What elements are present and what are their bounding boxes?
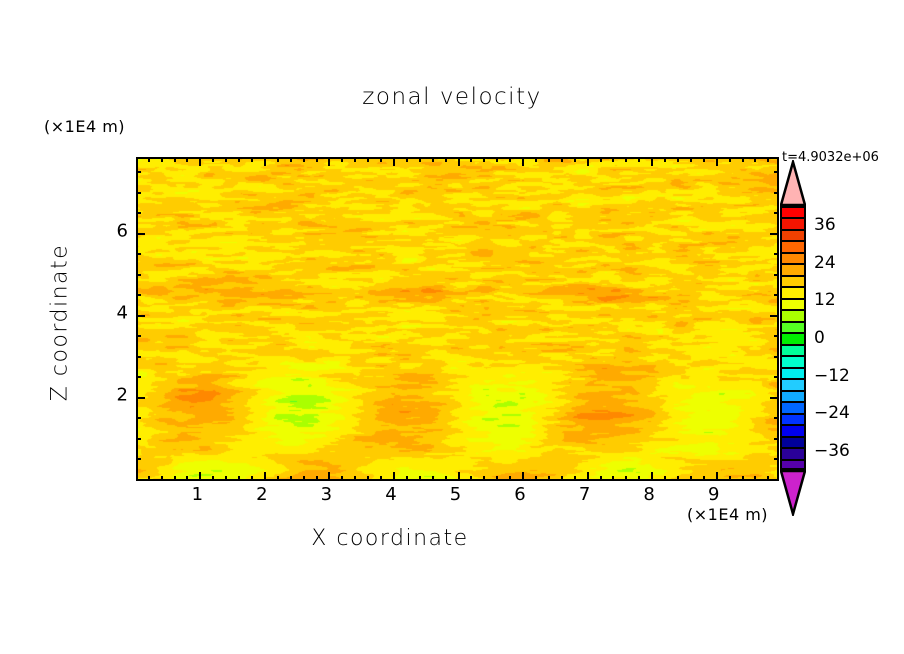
tick-mark xyxy=(419,157,421,162)
tick-mark xyxy=(136,274,141,276)
tick-mark xyxy=(303,157,305,162)
tick-mark xyxy=(509,157,511,162)
tick-mark xyxy=(574,157,576,162)
tick-mark xyxy=(161,476,163,481)
tick-mark xyxy=(496,157,498,162)
tick-mark xyxy=(774,356,779,358)
tick-mark xyxy=(354,476,356,481)
tick-mark xyxy=(483,157,485,162)
x-tick-label: 8 xyxy=(643,484,654,505)
colorbar-separator xyxy=(780,390,806,392)
tick-mark xyxy=(380,476,382,481)
tick-mark xyxy=(136,458,141,460)
tick-mark xyxy=(470,157,472,162)
tick-mark xyxy=(651,157,653,166)
tick-mark xyxy=(729,157,731,162)
tick-mark xyxy=(148,476,150,481)
tick-mark xyxy=(774,171,779,173)
tick-mark xyxy=(612,157,614,162)
x-tick-label: 4 xyxy=(385,484,396,505)
tick-mark xyxy=(625,476,627,481)
tick-mark xyxy=(328,472,330,481)
tick-mark xyxy=(136,376,141,378)
tick-mark xyxy=(767,476,769,481)
contour-field xyxy=(138,159,777,479)
x-axis-title: X coordinate xyxy=(0,526,780,551)
tick-mark xyxy=(341,157,343,162)
tick-mark xyxy=(561,157,563,162)
tick-mark xyxy=(238,476,240,481)
tick-mark xyxy=(136,315,145,317)
tick-mark xyxy=(432,157,434,162)
tick-mark xyxy=(625,157,627,162)
x-tick-label: 2 xyxy=(256,484,267,505)
tick-mark xyxy=(774,253,779,255)
tick-mark xyxy=(199,472,201,481)
tick-mark xyxy=(612,476,614,481)
tick-mark xyxy=(548,157,550,162)
x-tick-label: 7 xyxy=(579,484,590,505)
tick-mark xyxy=(770,233,779,235)
colorbar-separator xyxy=(780,321,806,323)
tick-mark xyxy=(251,476,253,481)
tick-mark xyxy=(638,476,640,481)
tick-mark xyxy=(251,157,253,162)
colorbar-separator xyxy=(780,468,806,470)
tick-mark xyxy=(148,157,150,162)
tick-mark xyxy=(316,157,318,162)
tick-mark xyxy=(458,157,460,166)
tick-mark xyxy=(638,157,640,162)
colorbar-separator xyxy=(780,229,806,231)
tick-mark xyxy=(742,476,744,481)
tick-mark xyxy=(716,157,718,166)
tick-mark xyxy=(600,157,602,162)
x-tick-label: 5 xyxy=(450,484,461,505)
contour-plot-area[interactable] xyxy=(136,157,779,481)
tick-mark xyxy=(509,476,511,481)
tick-mark xyxy=(225,157,227,162)
colorbar-separator xyxy=(780,367,806,369)
tick-mark xyxy=(574,476,576,481)
colorbar-over-range-arrow xyxy=(780,160,806,206)
tick-mark xyxy=(406,476,408,481)
tick-mark xyxy=(774,479,779,481)
x-axis-units-label: (×1E4 m) xyxy=(687,505,768,524)
colorbar-label: −12 xyxy=(814,366,850,386)
colorbar-separator xyxy=(780,344,806,346)
colorbar-under-range-arrow xyxy=(780,470,806,516)
colorbar-separator xyxy=(780,240,806,242)
colorbar-label: 24 xyxy=(814,253,836,273)
y-tick-label: 6 xyxy=(98,220,128,241)
colorbar-separator xyxy=(780,413,806,415)
tick-mark xyxy=(754,157,756,162)
tick-mark xyxy=(548,476,550,481)
tick-mark xyxy=(380,157,382,162)
tick-mark xyxy=(367,157,369,162)
tick-mark xyxy=(136,356,141,358)
tick-mark xyxy=(561,476,563,481)
colorbar-separator xyxy=(780,252,806,254)
tick-mark xyxy=(651,472,653,481)
tick-mark xyxy=(742,157,744,162)
tick-mark xyxy=(774,376,779,378)
tick-mark xyxy=(774,294,779,296)
y-axis-title: Z coordinate xyxy=(48,223,73,423)
tick-mark xyxy=(393,472,395,481)
tick-mark xyxy=(419,476,421,481)
tick-mark xyxy=(774,274,779,276)
tick-mark xyxy=(716,472,718,481)
tick-mark xyxy=(225,476,227,481)
colorbar-separator xyxy=(780,286,806,288)
tick-mark xyxy=(290,157,292,162)
tick-mark xyxy=(136,171,141,173)
tick-mark xyxy=(277,157,279,162)
colorbar-label: −36 xyxy=(814,441,850,461)
tick-mark xyxy=(729,476,731,481)
tick-mark xyxy=(677,476,679,481)
tick-mark xyxy=(174,476,176,481)
tick-mark xyxy=(767,157,769,162)
x-tick-label: 6 xyxy=(514,484,525,505)
tick-mark xyxy=(535,157,537,162)
tick-mark xyxy=(136,479,141,481)
tick-mark xyxy=(470,476,472,481)
tick-mark xyxy=(212,476,214,481)
colorbar-label: −24 xyxy=(814,403,850,423)
tick-mark xyxy=(677,157,679,162)
colorbar-separator xyxy=(780,424,806,426)
tick-mark xyxy=(136,233,145,235)
colorbar-separator xyxy=(780,275,806,277)
tick-mark xyxy=(290,476,292,481)
colorbar[interactable]: 3624120−12−24−36 xyxy=(780,206,806,470)
tick-mark xyxy=(587,157,589,166)
tick-mark xyxy=(458,472,460,481)
page-title: zonal velocity xyxy=(0,84,904,110)
tick-mark xyxy=(161,157,163,162)
tick-mark xyxy=(136,417,141,419)
tick-mark xyxy=(770,397,779,399)
colorbar-separator xyxy=(780,401,806,403)
tick-mark xyxy=(136,192,141,194)
tick-mark xyxy=(264,157,266,166)
tick-mark xyxy=(664,157,666,162)
tick-mark xyxy=(445,476,447,481)
tick-mark xyxy=(432,476,434,481)
tick-mark xyxy=(393,157,395,166)
tick-mark xyxy=(754,476,756,481)
tick-mark xyxy=(186,157,188,162)
tick-mark xyxy=(238,157,240,162)
tick-mark xyxy=(303,476,305,481)
tick-mark xyxy=(770,315,779,317)
tick-mark xyxy=(136,438,141,440)
colorbar-separator xyxy=(780,309,806,311)
x-tick-label: 3 xyxy=(321,484,332,505)
tick-mark xyxy=(136,253,141,255)
tick-mark xyxy=(264,472,266,481)
colorbar-separator xyxy=(780,436,806,438)
tick-mark xyxy=(522,157,524,166)
colorbar-separator xyxy=(780,355,806,357)
colorbar-separator xyxy=(780,263,806,265)
x-tick-label: 9 xyxy=(708,484,719,505)
y-axis-units-label: (×1E4 m) xyxy=(44,117,125,136)
tick-mark xyxy=(354,157,356,162)
tick-mark xyxy=(600,476,602,481)
tick-mark xyxy=(496,476,498,481)
tick-mark xyxy=(483,476,485,481)
tick-mark xyxy=(174,157,176,162)
colorbar-separator xyxy=(780,298,806,300)
tick-mark xyxy=(136,294,141,296)
tick-mark xyxy=(774,212,779,214)
tick-mark xyxy=(535,476,537,481)
tick-mark xyxy=(277,476,279,481)
tick-mark xyxy=(774,417,779,419)
tick-mark xyxy=(367,476,369,481)
tick-mark xyxy=(136,397,145,399)
colorbar-label: 12 xyxy=(814,290,836,310)
tick-mark xyxy=(199,157,201,166)
tick-mark xyxy=(703,157,705,162)
tick-mark xyxy=(316,476,318,481)
tick-mark xyxy=(690,476,692,481)
x-tick-label: 1 xyxy=(192,484,203,505)
colorbar-separator xyxy=(780,447,806,449)
colorbar-separator xyxy=(780,332,806,334)
colorbar-separator xyxy=(780,217,806,219)
tick-mark xyxy=(212,157,214,162)
tick-mark xyxy=(136,335,141,337)
tick-mark xyxy=(703,476,705,481)
tick-mark xyxy=(136,212,141,214)
tick-mark xyxy=(664,476,666,481)
colorbar-separator xyxy=(780,459,806,461)
tick-mark xyxy=(186,476,188,481)
tick-mark xyxy=(774,192,779,194)
tick-mark xyxy=(587,472,589,481)
colorbar-separator xyxy=(780,378,806,380)
tick-mark xyxy=(522,472,524,481)
tick-mark xyxy=(690,157,692,162)
tick-mark xyxy=(774,438,779,440)
y-tick-label: 2 xyxy=(98,384,128,405)
y-tick-label: 4 xyxy=(98,302,128,323)
colorbar-separator xyxy=(780,206,806,208)
tick-mark xyxy=(774,458,779,460)
colorbar-label: 36 xyxy=(814,215,836,235)
tick-mark xyxy=(406,157,408,162)
tick-mark xyxy=(774,335,779,337)
colorbar-label: 0 xyxy=(814,328,825,348)
tick-mark xyxy=(341,476,343,481)
tick-mark xyxy=(445,157,447,162)
tick-mark xyxy=(328,157,330,166)
